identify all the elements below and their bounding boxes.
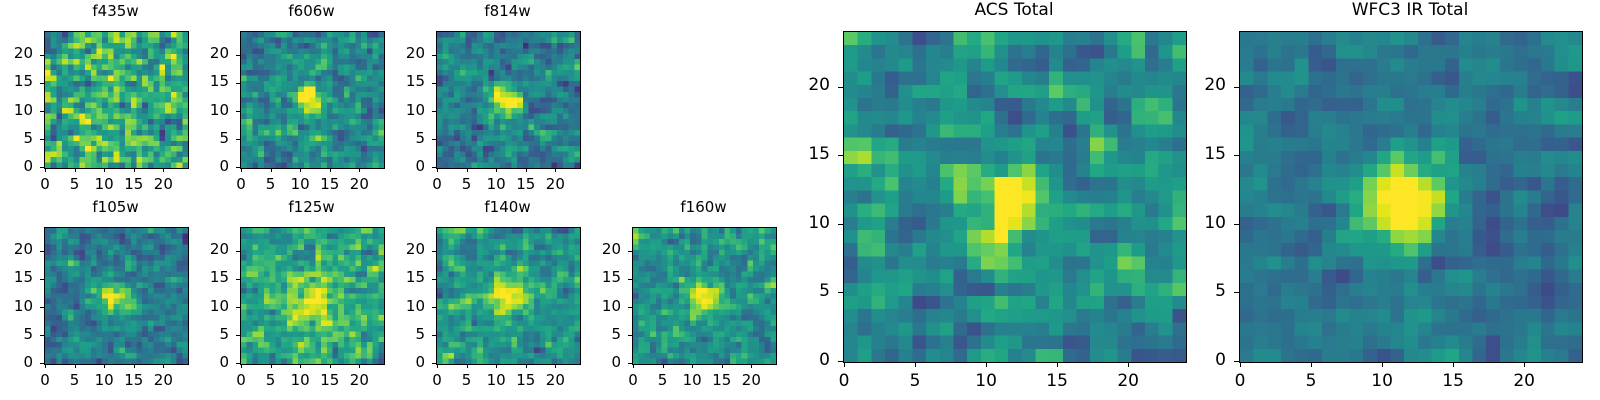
ytick-f435w-15 — [40, 83, 44, 84]
ytick-f105w-10 — [40, 307, 44, 308]
xtick-f105w-5 — [75, 364, 76, 368]
yticklabel-f435w-5: 5 — [0, 131, 33, 146]
image-axes-f140w — [436, 227, 581, 365]
yticklabel-wfc3-ir-total-5: 5 — [1179, 283, 1226, 300]
ytick-acs-total-15 — [838, 155, 843, 156]
figure-canvas: f435w0510152005101520f606w05101520051015… — [0, 0, 1600, 400]
xtick-wfc3-ir-total-0 — [1240, 362, 1241, 367]
ytick-acs-total-20 — [838, 87, 843, 88]
yticklabel-f435w-20: 20 — [0, 46, 33, 61]
yticklabel-acs-total-5: 5 — [783, 283, 830, 300]
yticklabel-f160w-10: 10 — [572, 299, 621, 314]
yticklabel-f814w-20: 20 — [376, 46, 425, 61]
yticklabel-f160w-15: 15 — [572, 270, 621, 285]
xtick-f105w-20 — [163, 364, 164, 368]
yticklabel-acs-total-10: 10 — [783, 215, 830, 232]
xtick-f814w-5 — [467, 168, 468, 172]
xtick-wfc3-ir-total-10 — [1382, 362, 1383, 367]
ytick-wfc3-ir-total-5 — [1234, 292, 1239, 293]
xtick-f160w-10 — [692, 364, 693, 368]
panel-acs-total: ACS Total0510152005101520 — [783, 2, 1245, 395]
xtick-f105w-10 — [104, 364, 105, 368]
yticklabel-f125w-15: 15 — [180, 270, 229, 285]
ytick-f125w-20 — [236, 251, 240, 252]
xtick-f435w-5 — [75, 168, 76, 172]
ytick-f160w-0 — [628, 363, 632, 364]
yticklabel-f606w-5: 5 — [180, 131, 229, 146]
yticklabel-f606w-0: 0 — [180, 159, 229, 174]
ytick-f125w-10 — [236, 307, 240, 308]
ytick-f606w-15 — [236, 83, 240, 84]
xtick-f125w-0 — [241, 364, 242, 368]
xtick-wfc3-ir-total-20 — [1524, 362, 1525, 367]
xtick-f125w-20 — [359, 364, 360, 368]
ytick-f125w-5 — [236, 335, 240, 336]
xtick-f435w-20 — [163, 168, 164, 172]
xtick-f125w-15 — [330, 364, 331, 368]
panel-title-f140w: f140w — [436, 200, 579, 215]
ytick-f606w-0 — [236, 167, 240, 168]
yticklabel-acs-total-15: 15 — [783, 146, 830, 163]
xticklabel-acs-total-0: 0 — [814, 373, 874, 390]
panel-title-f105w: f105w — [44, 200, 187, 215]
xtick-f140w-10 — [496, 364, 497, 368]
yticklabel-f435w-0: 0 — [0, 159, 33, 174]
xtick-f814w-15 — [526, 168, 527, 172]
yticklabel-f125w-0: 0 — [180, 355, 229, 370]
ytick-acs-total-0 — [838, 361, 843, 362]
image-axes-acs-total — [843, 31, 1187, 363]
panel-title-f160w: f160w — [632, 200, 775, 215]
image-axes-f160w — [632, 227, 777, 365]
ytick-f160w-20 — [628, 251, 632, 252]
ytick-f160w-10 — [628, 307, 632, 308]
ytick-f606w-20 — [236, 55, 240, 56]
xticklabel-wfc3-ir-total-20: 20 — [1494, 373, 1554, 390]
yticklabel-f140w-20: 20 — [376, 242, 425, 257]
xtick-f435w-15 — [134, 168, 135, 172]
xtick-f814w-10 — [496, 168, 497, 172]
ytick-f435w-10 — [40, 111, 44, 112]
yticklabel-f140w-5: 5 — [376, 327, 425, 342]
yticklabel-f435w-15: 15 — [0, 74, 33, 89]
ytick-f814w-0 — [432, 167, 436, 168]
xticklabel-wfc3-ir-total-5: 5 — [1281, 373, 1341, 390]
xticklabel-acs-total-10: 10 — [956, 373, 1016, 390]
xtick-acs-total-5 — [915, 362, 916, 367]
image-axes-f125w — [240, 227, 385, 365]
ytick-f814w-10 — [432, 111, 436, 112]
ytick-f160w-5 — [628, 335, 632, 336]
xticklabel-acs-total-5: 5 — [885, 373, 945, 390]
ytick-f140w-5 — [432, 335, 436, 336]
xtick-f435w-0 — [45, 168, 46, 172]
panel-title-f125w: f125w — [240, 200, 383, 215]
yticklabel-f105w-10: 10 — [0, 299, 33, 314]
yticklabel-acs-total-0: 0 — [783, 352, 830, 369]
xtick-f125w-5 — [271, 364, 272, 368]
ytick-wfc3-ir-total-10 — [1234, 224, 1239, 225]
xtick-f105w-0 — [45, 364, 46, 368]
xtick-f140w-5 — [467, 364, 468, 368]
ytick-f140w-10 — [432, 307, 436, 308]
panel-title-wfc3-ir-total: WFC3 IR Total — [1239, 2, 1581, 19]
xtick-f435w-10 — [104, 168, 105, 172]
xtick-f814w-0 — [437, 168, 438, 172]
image-axes-f105w — [44, 227, 189, 365]
xtick-f140w-0 — [437, 364, 438, 368]
ytick-f105w-5 — [40, 335, 44, 336]
xtick-acs-total-10 — [986, 362, 987, 367]
yticklabel-f160w-20: 20 — [572, 242, 621, 257]
yticklabel-f140w-0: 0 — [376, 355, 425, 370]
xtick-f160w-15 — [722, 364, 723, 368]
xtick-f160w-5 — [663, 364, 664, 368]
xticklabel-wfc3-ir-total-0: 0 — [1210, 373, 1270, 390]
yticklabel-f814w-0: 0 — [376, 159, 425, 174]
yticklabel-wfc3-ir-total-15: 15 — [1179, 146, 1226, 163]
xtick-f606w-5 — [271, 168, 272, 172]
xtick-f160w-20 — [751, 364, 752, 368]
ytick-f140w-0 — [432, 363, 436, 364]
image-axes-f606w — [240, 31, 385, 169]
ytick-f435w-20 — [40, 55, 44, 56]
panel-title-f606w: f606w — [240, 4, 383, 19]
image-axes-f435w — [44, 31, 189, 169]
yticklabel-f435w-10: 10 — [0, 103, 33, 118]
yticklabel-acs-total-20: 20 — [783, 77, 830, 94]
yticklabel-f140w-15: 15 — [376, 270, 425, 285]
ytick-f105w-20 — [40, 251, 44, 252]
xtick-f606w-20 — [359, 168, 360, 172]
xtick-f125w-10 — [300, 364, 301, 368]
xtick-wfc3-ir-total-15 — [1453, 362, 1454, 367]
yticklabel-f105w-20: 20 — [0, 242, 33, 257]
yticklabel-f814w-10: 10 — [376, 103, 425, 118]
xticklabel-acs-total-20: 20 — [1098, 373, 1158, 390]
ytick-f125w-15 — [236, 279, 240, 280]
ytick-f435w-0 — [40, 167, 44, 168]
yticklabel-f125w-20: 20 — [180, 242, 229, 257]
xtick-acs-total-20 — [1128, 362, 1129, 367]
panel-wfc3-ir-total: WFC3 IR Total0510152005101520 — [1179, 2, 1600, 395]
xtick-f160w-0 — [633, 364, 634, 368]
xtick-f814w-20 — [555, 168, 556, 172]
ytick-f105w-0 — [40, 363, 44, 364]
xtick-f140w-20 — [555, 364, 556, 368]
yticklabel-f606w-20: 20 — [180, 46, 229, 61]
yticklabel-f125w-5: 5 — [180, 327, 229, 342]
yticklabel-f105w-15: 15 — [0, 270, 33, 285]
yticklabel-f140w-10: 10 — [376, 299, 425, 314]
xticklabel-f814w-20: 20 — [525, 177, 585, 192]
panel-title-f814w: f814w — [436, 4, 579, 19]
ytick-f814w-15 — [432, 83, 436, 84]
xtick-f606w-15 — [330, 168, 331, 172]
xtick-acs-total-0 — [844, 362, 845, 367]
yticklabel-f105w-5: 5 — [0, 327, 33, 342]
ytick-wfc3-ir-total-20 — [1234, 87, 1239, 88]
panel-title-f435w: f435w — [44, 4, 187, 19]
xticklabel-f160w-20: 20 — [721, 373, 781, 388]
panel-title-acs-total: ACS Total — [843, 2, 1185, 19]
ytick-f105w-15 — [40, 279, 44, 280]
yticklabel-wfc3-ir-total-0: 0 — [1179, 352, 1226, 369]
yticklabel-f606w-15: 15 — [180, 74, 229, 89]
yticklabel-wfc3-ir-total-20: 20 — [1179, 77, 1226, 94]
xticklabel-acs-total-15: 15 — [1027, 373, 1087, 390]
ytick-f435w-5 — [40, 139, 44, 140]
yticklabel-f814w-5: 5 — [376, 131, 425, 146]
yticklabel-f814w-15: 15 — [376, 74, 425, 89]
yticklabel-f160w-0: 0 — [572, 355, 621, 370]
ytick-f140w-20 — [432, 251, 436, 252]
ytick-f814w-20 — [432, 55, 436, 56]
xtick-f606w-0 — [241, 168, 242, 172]
image-axes-wfc3-ir-total — [1239, 31, 1583, 363]
yticklabel-f160w-5: 5 — [572, 327, 621, 342]
xtick-f140w-15 — [526, 364, 527, 368]
ytick-f160w-15 — [628, 279, 632, 280]
ytick-f606w-10 — [236, 111, 240, 112]
xticklabel-wfc3-ir-total-15: 15 — [1423, 373, 1483, 390]
ytick-wfc3-ir-total-15 — [1234, 155, 1239, 156]
ytick-f140w-15 — [432, 279, 436, 280]
panel-f814w: f814w0510152005101520 — [376, 4, 639, 201]
ytick-acs-total-10 — [838, 224, 843, 225]
ytick-f606w-5 — [236, 139, 240, 140]
xtick-wfc3-ir-total-5 — [1311, 362, 1312, 367]
xticklabel-wfc3-ir-total-10: 10 — [1352, 373, 1412, 390]
xtick-f606w-10 — [300, 168, 301, 172]
xtick-acs-total-15 — [1057, 362, 1058, 367]
yticklabel-f606w-10: 10 — [180, 103, 229, 118]
ytick-f125w-0 — [236, 363, 240, 364]
yticklabel-f125w-10: 10 — [180, 299, 229, 314]
image-axes-f814w — [436, 31, 581, 169]
ytick-wfc3-ir-total-0 — [1234, 361, 1239, 362]
xtick-f105w-15 — [134, 364, 135, 368]
yticklabel-wfc3-ir-total-10: 10 — [1179, 215, 1226, 232]
yticklabel-f105w-0: 0 — [0, 355, 33, 370]
ytick-f814w-5 — [432, 139, 436, 140]
ytick-acs-total-5 — [838, 292, 843, 293]
